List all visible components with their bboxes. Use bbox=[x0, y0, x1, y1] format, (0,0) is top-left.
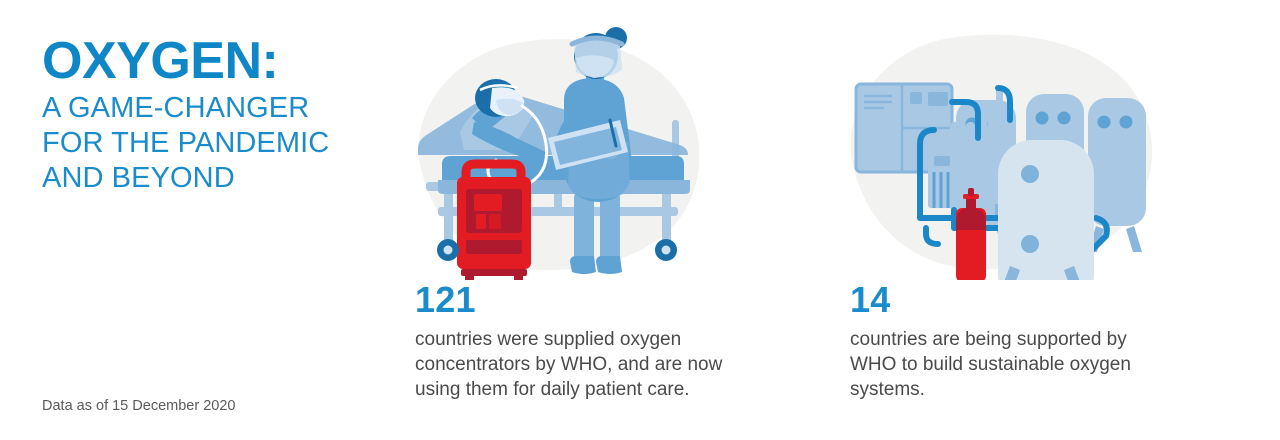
stat-number: 121 bbox=[415, 282, 770, 318]
panel-display bbox=[928, 92, 948, 106]
tank-port-lower bbox=[1021, 235, 1039, 253]
stat-number: 14 bbox=[850, 282, 1160, 318]
headline-block: OXYGEN: A GAME-CHANGER FOR THE PANDEMIC … bbox=[42, 36, 382, 195]
stat-description: countries are being supported by WHO to … bbox=[850, 327, 1160, 402]
infographic-canvas: OXYGEN: A GAME-CHANGER FOR THE PANDEMIC … bbox=[0, 0, 1280, 440]
page-title: OXYGEN: bbox=[42, 36, 382, 87]
patient-bed-oxygen-concentrator-illustration bbox=[404, 22, 724, 280]
page-subtitle: A GAME-CHANGER FOR THE PANDEMIC AND BEYO… bbox=[42, 91, 382, 195]
stat-description: countries were supplied oxygen concentra… bbox=[415, 327, 770, 402]
cylinder-valve bbox=[966, 198, 976, 210]
stat-block-concentrators: 121 countries were supplied oxygen conce… bbox=[415, 282, 770, 402]
main-oxygen-tank bbox=[998, 140, 1094, 280]
subtitle-line-1: A GAME-CHANGER bbox=[42, 91, 382, 126]
data-as-of-note: Data as of 15 December 2020 bbox=[42, 398, 235, 414]
subtitle-line-3: AND BEYOND bbox=[42, 161, 382, 196]
oxygen-plant-tanks-illustration bbox=[838, 22, 1168, 280]
subtitle-line-2: FOR THE PANDEMIC bbox=[42, 126, 382, 161]
stat-block-oxygen-systems: 14 countries are being supported by WHO … bbox=[850, 282, 1160, 402]
tank-port-upper bbox=[1021, 165, 1039, 183]
panel-button bbox=[910, 92, 922, 104]
oxygen-concentrator bbox=[457, 164, 531, 280]
